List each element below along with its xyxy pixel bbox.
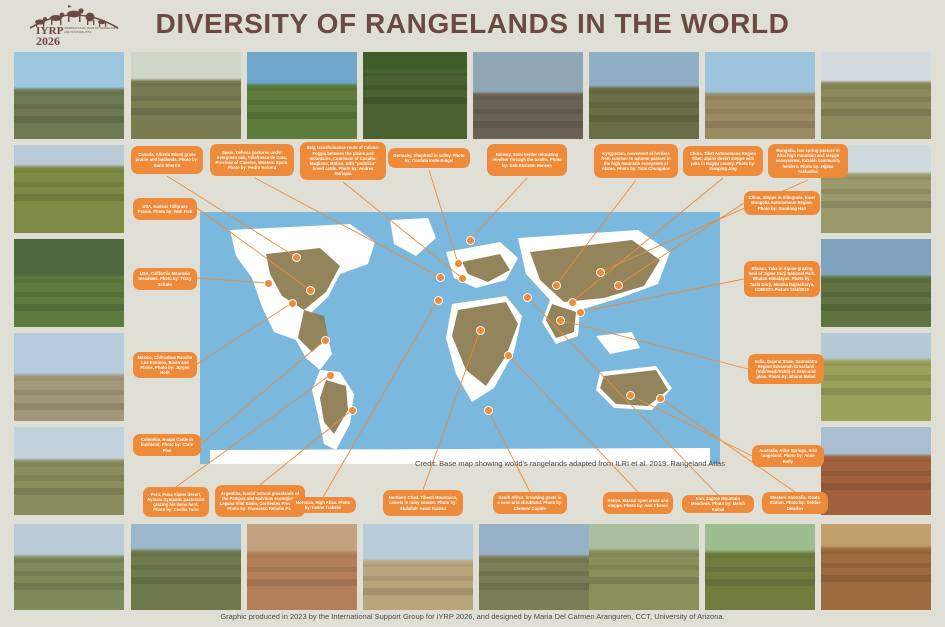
photo-gujarat-grassland: [821, 333, 931, 421]
callout-text: Bhutan, Yaks in Alpine grazing land of J…: [748, 266, 816, 292]
photo-texture-band: [14, 571, 124, 576]
photo-texture-band: [131, 553, 241, 556]
dot-alice[interactable]: [656, 394, 665, 403]
callout-kenya-maasai[interactable]: Kenya, Maasai open areas and steppe. Pho…: [603, 492, 673, 514]
photo-kansas-prairie: [14, 145, 124, 233]
callout-text: Mexico, Chihuahua Rancho Los Encinos, Bi…: [137, 355, 193, 376]
map-credit: Credit: Base map showing world's rangela…: [415, 459, 725, 468]
callout-text: Mongolia, late spring pasture in Altai h…: [772, 148, 844, 174]
photo-texture-band: [821, 471, 931, 476]
photo-texture-band: [705, 555, 815, 558]
callout-spain-dehesa[interactable]: Spain, Dehesa pastures under evergreen o…: [210, 144, 294, 176]
dot-alberta[interactable]: [292, 253, 301, 262]
photo-texture-band: [363, 576, 473, 581]
photo-texture-band: [247, 555, 357, 558]
photo-texture-band: [14, 104, 124, 109]
world-map-svg: [200, 212, 720, 464]
photo-texture-band: [14, 279, 124, 283]
callout-text: Peru, Puna Alpine desert, Aymara Sympati…: [147, 492, 205, 513]
photo-texture-band: [14, 116, 124, 123]
photo-sheep-flock-valley: [363, 52, 467, 139]
photo-texture-band: [821, 85, 931, 88]
photo-horse-herders: [589, 52, 699, 139]
photo-texture-band: [247, 112, 357, 119]
dot-mongolia[interactable]: [596, 268, 605, 277]
dot-south-africa[interactable]: [484, 406, 493, 415]
photo-peru-llamas: [14, 524, 124, 610]
callout-iran-zagros[interactable]: Iran, Zagros Mountain Meadows. Photo by:…: [682, 495, 754, 513]
photo-texture-band: [821, 363, 931, 367]
photo-texture-band: [821, 109, 931, 116]
dot-iran[interactable]: [523, 293, 532, 302]
photo-colombia-bushland: [14, 427, 124, 515]
callout-text: Norway, Sami herder relocating reindeer …: [491, 152, 563, 168]
photo-morocco-canyon: [247, 524, 357, 610]
photo-texture-band: [247, 100, 357, 105]
photo-texture-band: [821, 483, 931, 490]
photo-texture-band: [821, 201, 931, 208]
callout-germany-shepherd[interactable]: Germany, Shepherd in valley. Photo by: C…: [388, 148, 470, 168]
callout-australia-alice-springs[interactable]: Australia, Alice Springs, Arid rangeland…: [752, 445, 824, 467]
callout-text: China, Steppe in Xilinguole, Inner Mongo…: [748, 195, 816, 211]
callout-canada-alberta[interactable]: Canada, Alberta Mixed grass prairie and …: [131, 146, 203, 174]
dot-germany[interactable]: [454, 259, 463, 268]
callout-mongolia-altai[interactable]: Mongolia, late spring pasture in Altai h…: [768, 144, 848, 178]
dot-italy[interactable]: [458, 274, 467, 283]
photo-texture-band: [589, 577, 699, 584]
photo-iran-zagros-meadow: [705, 524, 815, 610]
photo-kenya-steppe: [589, 524, 699, 610]
callout-south-africa-goats[interactable]: South Africa, browsing goats in a semi-a…: [493, 492, 567, 514]
photo-texture-band: [821, 375, 931, 380]
photo-tibet-plateau: [705, 52, 815, 139]
callout-morocco-atlas[interactable]: Morocco, High Atlas. Photo by: Iméne Tra…: [290, 497, 356, 513]
dot-chihuahua[interactable]: [288, 299, 297, 308]
photo-chad-tibesti-rock: [363, 524, 473, 610]
dot-kyrgyzstan[interactable]: [552, 281, 561, 290]
callout-text: South Africa, browsing goats in a semi-a…: [497, 495, 563, 511]
callout-china-xilinguole[interactable]: China, Steppe in Xilinguole, Inner Mongo…: [744, 191, 820, 215]
photo-texture-band: [589, 102, 699, 107]
photo-texture-band: [131, 565, 241, 570]
photo-texture-band: [247, 88, 357, 91]
photo-texture-band: [14, 390, 124, 395]
photo-reindeer-tundra: [473, 52, 583, 139]
photo-texture-band: [705, 579, 815, 586]
dot-peru[interactable]: [326, 371, 335, 380]
photo-texture-band: [247, 567, 357, 572]
photo-texture-band: [705, 121, 815, 128]
callout-kyrgyzstan-herders[interactable]: Kyrgyzstan, movement of herders from sum…: [594, 144, 678, 178]
photo-texture-band: [363, 588, 473, 595]
photo-texture-band: [821, 388, 931, 395]
callout-colombia-huapa[interactable]: Colombia, Huapa Cattle in bushland. Phot…: [133, 434, 201, 456]
photo-texture-band: [14, 92, 124, 95]
photo-texture-band: [821, 563, 931, 568]
callout-text: Argentina, humid natural grasslands of t…: [219, 491, 301, 512]
photo-texture-band: [131, 577, 241, 584]
dot-spain[interactable]: [436, 273, 445, 282]
dot-morocco[interactable]: [434, 296, 443, 305]
photo-texture-band: [131, 96, 241, 101]
callout-china-tibet[interactable]: China, Tibet Autonomous Region Tibet, al…: [683, 146, 763, 176]
photo-texture-band: [14, 463, 124, 467]
photo-texture-band: [363, 73, 467, 76]
photo-texture-band: [131, 83, 241, 86]
callout-text: India, Gujarat State, Saurashtra Region …: [752, 359, 820, 380]
photo-texture-band: [705, 96, 815, 99]
dot-india[interactable]: [556, 316, 565, 325]
photo-texture-band: [14, 559, 124, 562]
callout-india-gujarat[interactable]: India, Gujarat State, Saurashtra Region …: [748, 354, 824, 384]
photo-texture-band: [821, 459, 931, 463]
callout-text: Kenya, Maasai open areas and steppe. Pho…: [607, 498, 669, 508]
poster-root: IYRP 2026 INTERNATIONAL YEAR OF RANGELAN…: [0, 0, 945, 627]
photo-mongolia-livestock: [821, 52, 931, 139]
photo-texture-band: [14, 170, 124, 174]
callout-text: Italy, transhumance route of Celano-Fogg…: [304, 145, 382, 176]
photo-texture-band: [589, 565, 699, 570]
photo-texture-band: [705, 109, 815, 114]
callout-text: Colombia, Huapa Cattle in bushland. Phot…: [137, 437, 197, 453]
callout-bhutan-yaks[interactable]: Bhutan, Yaks in Alpine grazing land of J…: [744, 261, 820, 297]
callout-western-australia[interactable]: Western Australia, Goats Station. Photo …: [762, 492, 828, 514]
callout-text: China, Tibet Autonomous Region Tibet, al…: [687, 151, 759, 172]
callout-text: USA, California Mountain meadows. Photo …: [137, 271, 193, 287]
photo-texture-band: [821, 189, 931, 194]
photo-texture-band: [589, 115, 699, 122]
photo-argentina-cattle: [131, 524, 241, 610]
photo-texture-band: [479, 559, 589, 562]
callout-text: Western Australia, Goats Station. Photo …: [766, 495, 824, 511]
photo-texture-band: [473, 96, 583, 99]
callout-text: USA, Kansas Tallgrass Prairie. Photo by:…: [137, 204, 193, 214]
photo-texture-band: [14, 292, 124, 297]
callout-text: Iran, Zagros Mountain Meadows. Photo by:…: [686, 496, 750, 512]
callout-text: Kyrgyzstan, movement of herders from sum…: [598, 151, 674, 172]
dot-tibet[interactable]: [568, 298, 577, 307]
photo-texture-band: [14, 488, 124, 495]
photo-texture-band: [363, 564, 473, 567]
dot-china[interactable]: [614, 281, 623, 290]
poster-header: IYRP 2026 INTERNATIONAL YEAR OF RANGELAN…: [0, 0, 945, 50]
photo-texture-band: [473, 121, 583, 128]
page-title: DIVERSITY OF RANGELANDS IN THE WORLD: [0, 8, 945, 40]
photo-texture-band: [479, 583, 589, 590]
dot-bhutan[interactable]: [576, 308, 585, 317]
photo-texture-band: [14, 475, 124, 480]
photo-coastal-prairie: [14, 52, 124, 139]
photo-texture-band: [821, 304, 931, 311]
callout-text: Northern Chad, Tibesti Mountains, camels…: [387, 495, 459, 511]
dot-california[interactable]: [264, 279, 273, 288]
callout-mexico-chihuahua[interactable]: Mexico, Chihuahua Rancho Los Encinos, Bi…: [133, 352, 197, 378]
photo-texture-band: [821, 292, 931, 297]
dot-chad[interactable]: [476, 326, 485, 335]
photo-texture-band: [14, 182, 124, 187]
callout-peru-puna[interactable]: Peru, Puna Alpine desert, Aymara Sympati…: [143, 487, 209, 517]
world-map: [200, 212, 720, 464]
footer-credit: Graphic produced in 2023 by the Internat…: [0, 612, 945, 621]
photo-texture-band: [363, 85, 467, 90]
photo-texture-band: [14, 403, 124, 410]
callout-text: Morocco, High Atlas. Photo by: Iméne Tra…: [294, 500, 352, 510]
photo-texture-band: [821, 97, 931, 102]
photo-texture-band: [821, 551, 931, 554]
photo-texture-band: [821, 575, 931, 582]
photo-texture-band: [14, 194, 124, 201]
photo-texture-band: [131, 108, 241, 115]
photo-south-africa-goats: [479, 524, 589, 610]
photo-texture-band: [14, 378, 124, 382]
dot-kansas[interactable]: [306, 286, 315, 295]
dot-norway[interactable]: [466, 236, 475, 245]
photo-texture-band: [473, 109, 583, 114]
photo-rider-cattle: [247, 52, 357, 139]
dot-kenya[interactable]: [504, 351, 513, 360]
dot-colombia[interactable]: [321, 336, 330, 345]
callout-text: Australia, Alice Springs, Arid rangeland…: [756, 448, 820, 464]
photo-texture-band: [247, 579, 357, 586]
dot-argentina[interactable]: [348, 406, 357, 415]
photo-alice-springs-arid: [821, 427, 931, 515]
callout-usa-california[interactable]: USA, California Mountain meadows. Photo …: [133, 268, 197, 290]
photo-bhutan-yaks: [821, 239, 931, 327]
photo-texture-band: [14, 304, 124, 311]
photo-california-meadow: [14, 239, 124, 327]
photo-texture-band: [705, 567, 815, 572]
callout-chad-tibesti[interactable]: Northern Chad, Tibesti Mountains, camels…: [383, 490, 463, 516]
photo-chihuahua-bison: [14, 333, 124, 421]
dot-w-australia[interactable]: [626, 391, 635, 400]
photo-australia-cattle-dust: [821, 524, 931, 610]
callout-usa-kansas[interactable]: USA, Kansas Tallgrass Prairie. Photo by:…: [133, 198, 197, 220]
callout-text: Germany, Shepherd in valley. Photo by: C…: [392, 153, 466, 163]
callout-norway-sami[interactable]: Norway, Sami herder relocating reindeer …: [487, 144, 567, 176]
photo-texture-band: [589, 553, 699, 556]
callout-text: Spain, Dehesa pastures under evergreen o…: [214, 150, 290, 171]
photo-texture-band: [14, 583, 124, 590]
callout-text: Canada, Alberta Mixed grass prairie and …: [135, 152, 199, 168]
photo-texture-band: [589, 90, 699, 93]
photo-texture-band: [363, 97, 467, 104]
photo-dehesa-oak: [131, 52, 241, 139]
callout-italy-transhumance[interactable]: Italy, transhumance route of Celano-Fogg…: [300, 142, 386, 180]
photo-texture-band: [479, 571, 589, 576]
photo-texture-band: [821, 279, 931, 283]
